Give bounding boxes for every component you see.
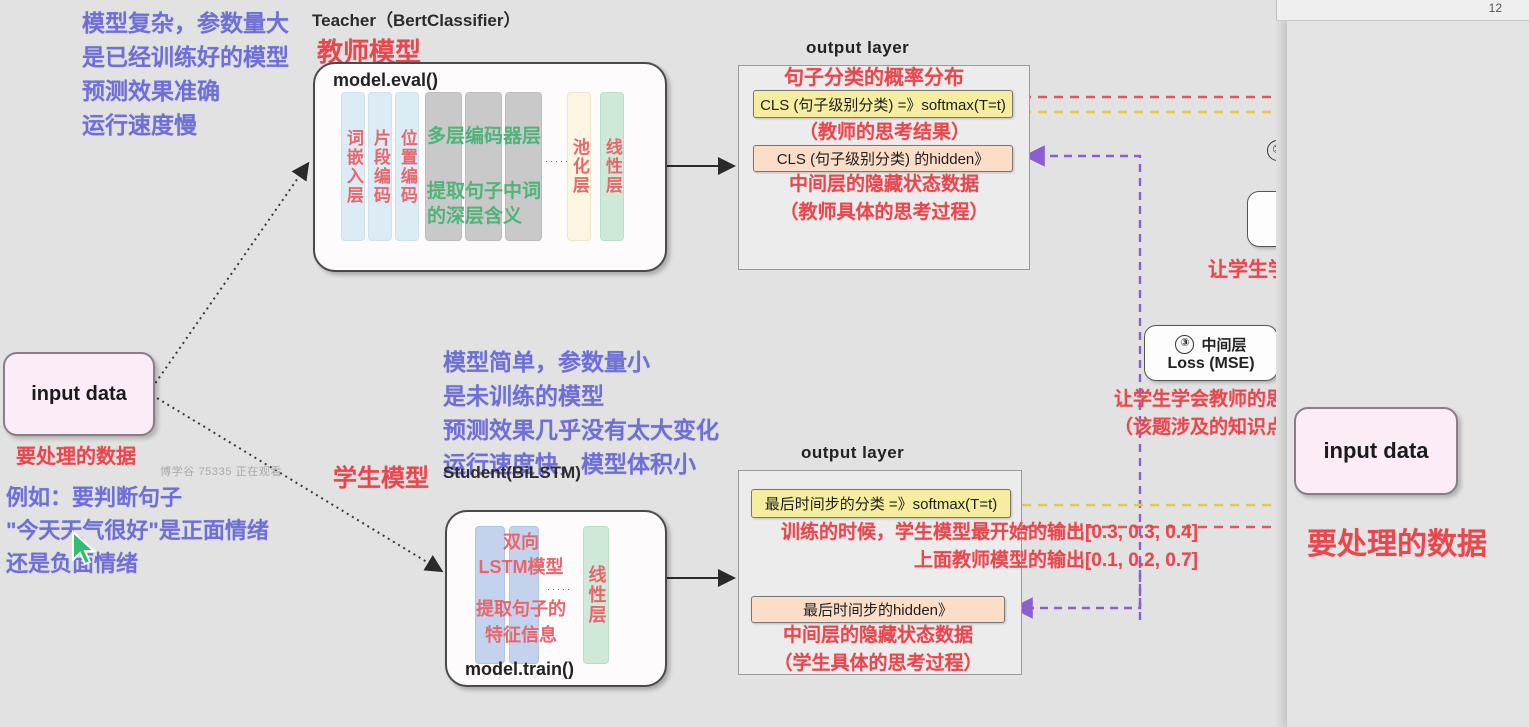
- teacher-softmax-caption: （教师的思考结果）: [799, 117, 970, 144]
- student-hidden-pill[interactable]: 最后时间步的hidden》: [751, 596, 1005, 623]
- browser-tab-strip[interactable]: 12: [1276, 0, 1529, 21]
- student-notes: 模型简单，参数量小 是未训练的模型 预测效果几乎没有太大变化 运行速度快，模型体…: [443, 345, 719, 481]
- student-softmax-pill[interactable]: 最后时间步的分类 =》softmax(T=t): [751, 489, 1011, 518]
- input-data-example: 例如：要判断句子 "今天天气很好"是正面情绪 还是负面情绪: [6, 481, 269, 580]
- teacher-layer-segment-encoding-label: 片段编码: [371, 129, 389, 205]
- watermark-text: 博学谷 75335 正在观看: [160, 463, 282, 479]
- teacher-layer-segment-encoding[interactable]: 片段编码: [368, 92, 392, 241]
- overlay-window[interactable]: input data 要处理的数据: [1286, 18, 1529, 727]
- teacher-layer-word-embedding-label: 词嵌入层: [344, 129, 362, 205]
- teacher-model-box[interactable]: model.eval() 词嵌入层 片段编码 位置编码 多层编码器层 提取句子中…: [313, 62, 667, 272]
- student-lstm-label-top: 双向 LSTM模型: [471, 530, 571, 580]
- teacher-softmax-pill[interactable]: CLS (句子级别分类) =》softmax(T=t): [753, 90, 1013, 118]
- teacher-layer-position-encoding-label: 位置编码: [398, 129, 416, 205]
- loss-3-number-badge: ③: [1175, 335, 1194, 354]
- input-data-node-right[interactable]: input data: [1294, 407, 1458, 495]
- student-ellipsis: ·····: [547, 584, 572, 594]
- teacher-hidden-pill[interactable]: CLS (句子级别分类) 的hidden》: [753, 145, 1013, 172]
- teacher-layer-linear-label: 线性层: [603, 138, 621, 195]
- student-output-panel: 最后时间步的分类 =》softmax(T=t) 训练的时候，学生模型最开始的输出…: [738, 470, 1022, 675]
- loss-node-3[interactable]: ③ 中间层 Loss (MSE): [1144, 325, 1278, 381]
- teacher-hidden-caption: 中间层的隐藏状态数据 （教师具体的思考过程）: [755, 171, 1013, 227]
- student-layer-linear-label: 线性层: [587, 565, 606, 625]
- teacher-layer-pooling-label: 池化层: [570, 138, 588, 195]
- student-layer-linear[interactable]: 线性层: [583, 526, 609, 664]
- input-data-caption-right: 要处理的数据: [1307, 519, 1487, 563]
- student-mode-label: model.train(): [465, 659, 574, 680]
- loss-node-3-line1: 中间层: [1201, 334, 1246, 355]
- teacher-output-headline: 句子分类的概率分布: [784, 61, 964, 90]
- student-softmax-caption: 训练的时候，学生模型最开始的输出[0.3, 0.3, 0.4] 上面教师模型的输…: [738, 519, 1198, 575]
- student-eng-title: Student(BiLSTM): [443, 463, 581, 483]
- loss-node-3-line2: Loss (MSE): [1167, 355, 1254, 373]
- student-cn-title: 学生模型: [333, 458, 429, 493]
- teacher-layer-linear[interactable]: 线性层: [600, 92, 624, 241]
- student-lstm-label-bottom: 提取句子的 特征信息: [471, 596, 571, 648]
- teacher-layer-position-encoding[interactable]: 位置编码: [395, 92, 419, 241]
- tab-number-label: 12: [1489, 1, 1502, 15]
- input-data-node-left[interactable]: input data: [3, 352, 155, 436]
- input-data-label-right: input data: [1323, 438, 1428, 464]
- input-data-caption-left: 要处理的数据: [16, 440, 136, 469]
- student-output-title: output layer: [801, 443, 904, 463]
- loss-node-3-caption: 让学生学会教师的思 （该题涉及的知识点: [1114, 386, 1285, 442]
- teacher-layer-pooling[interactable]: 池化层: [567, 92, 591, 241]
- teacher-mode-label: model.eval(): [333, 70, 438, 91]
- teacher-encoder-label-bottom: 提取句子中词 的深层含义: [427, 179, 541, 229]
- teacher-notes: 模型复杂，参数量大 是已经训练好的模型 预测效果准确 运行速度慢: [82, 6, 289, 142]
- teacher-output-title: output layer: [806, 38, 909, 58]
- teacher-layer-word-embedding[interactable]: 词嵌入层: [341, 92, 365, 241]
- teacher-output-panel: 句子分类的概率分布 CLS (句子级别分类) =》softmax(T=t) （教…: [738, 65, 1030, 270]
- teacher-eng-title: Teacher（BertClassifier）: [312, 6, 521, 31]
- teacher-encoder-label-top: 多层编码器层: [427, 121, 541, 148]
- student-hidden-caption: 中间层的隐藏状态数据 （学生具体的思考过程）: [749, 622, 1007, 678]
- diagram-canvas: 模型复杂，参数量大 是已经训练好的模型 预测效果准确 运行速度慢 Teacher…: [0, 0, 1529, 727]
- input-data-label-left: input data: [31, 383, 127, 406]
- student-model-box[interactable]: 双向 LSTM模型 提取句子的 特征信息 ····· 线性层 model.tra…: [445, 510, 667, 687]
- link-input-to-teacher: [152, 165, 307, 388]
